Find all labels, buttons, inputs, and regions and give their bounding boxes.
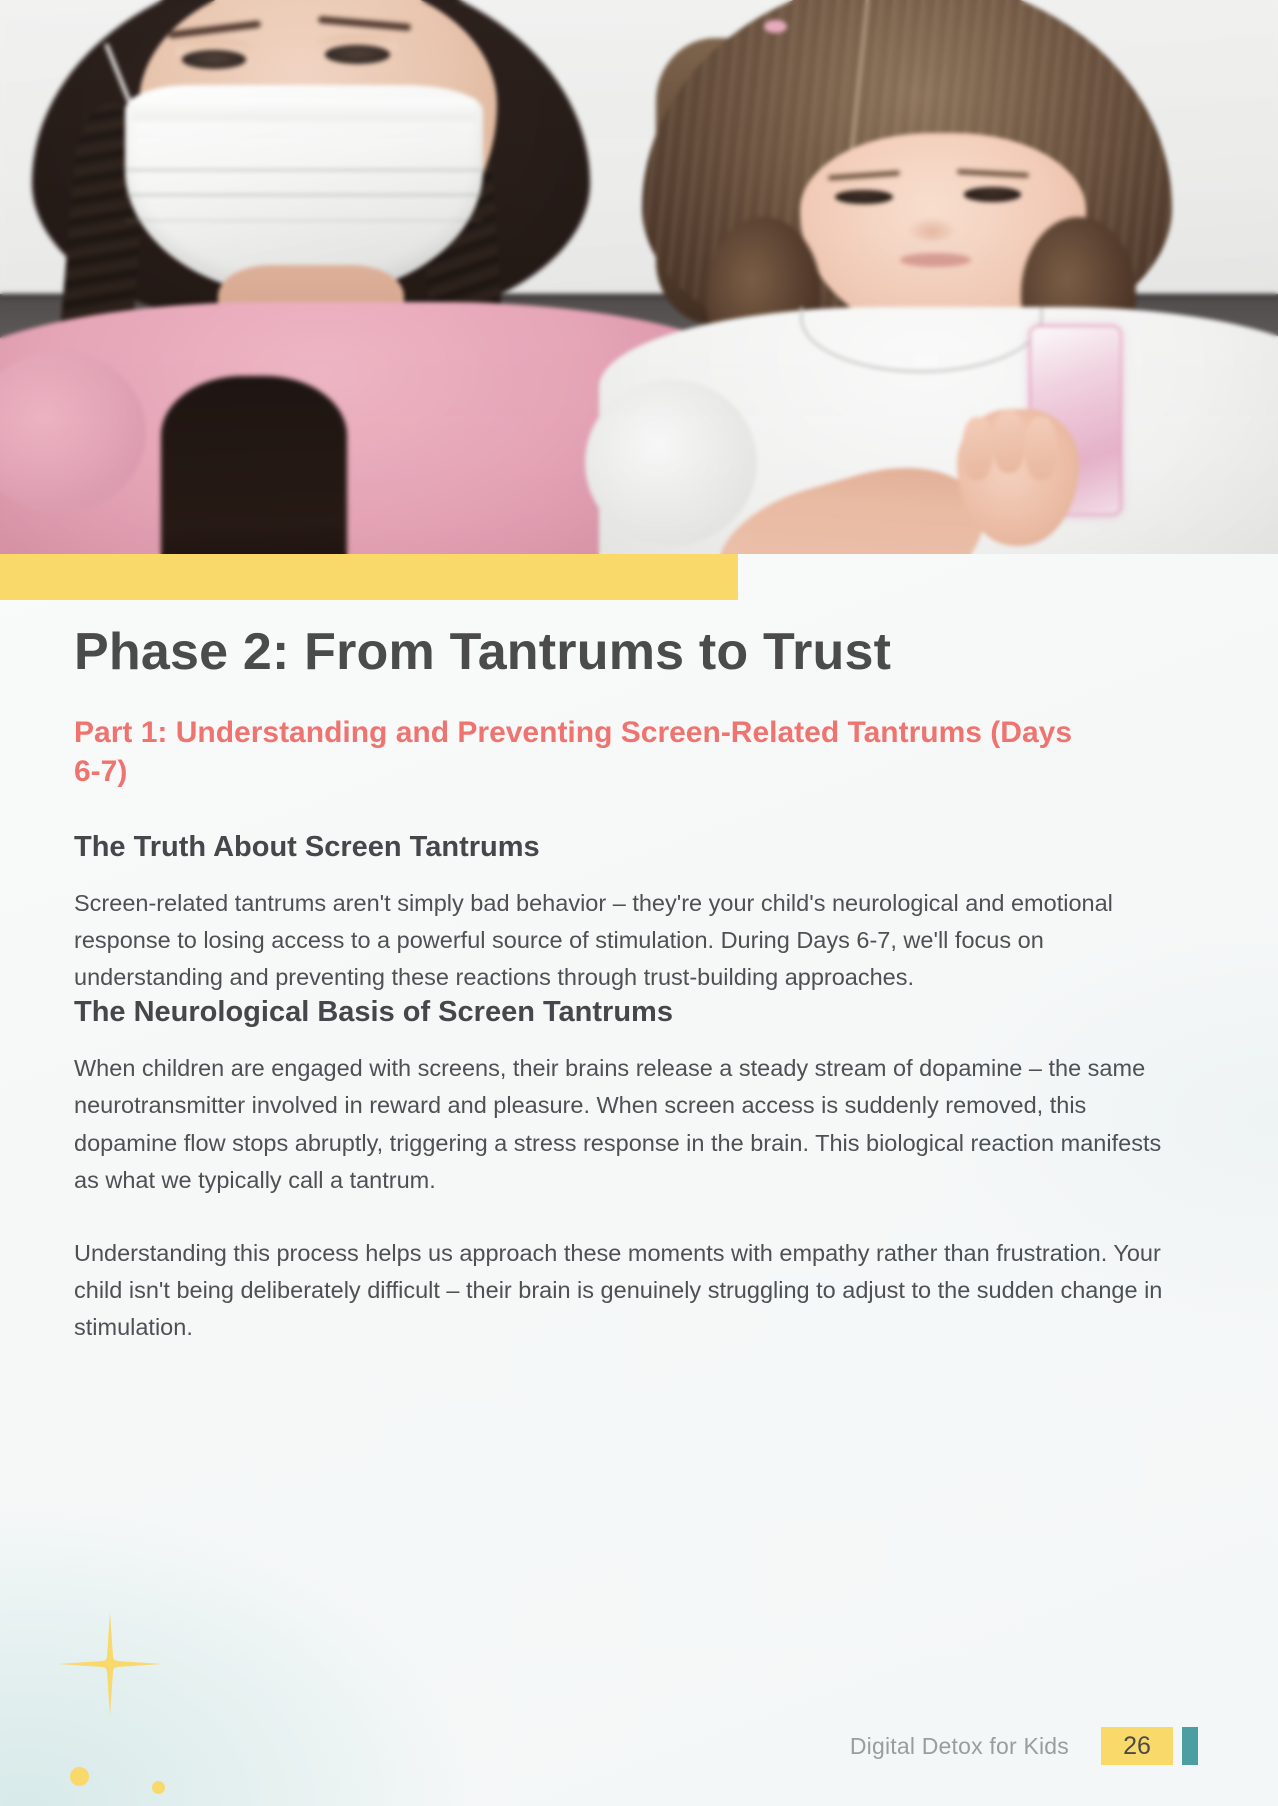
page-content: Phase 2: From Tantrums to Trust Part 1: … [74,624,1196,1346]
hero-image [0,0,1278,554]
face-mask-pleat [125,169,483,171]
photo-subject-toddler [613,0,1278,554]
section-heading-neurological-basis: The Neurological Basis of Screen Tantrum… [74,996,1196,1029]
paragraph-spacer [74,1199,1196,1235]
sparkle-core [93,1647,127,1681]
toddler-hair-tie [764,20,787,33]
toddler-sleeve [585,379,757,547]
page-number-badge: 26 [1101,1727,1173,1765]
sparkle-star-icon [58,1612,162,1716]
teal-accent-tab [1182,1727,1198,1765]
toddler-eye-right [964,187,1021,201]
footer-brand-label: Digital Detox for Kids [850,1733,1069,1760]
toddler-finger [962,417,994,480]
section-paragraph: When children are engaged with screens, … [74,1050,1182,1199]
toddler-finger [993,410,1025,473]
section-paragraph: Understanding this process helps us appr… [74,1235,1182,1346]
masked-girl-braid-tail [161,376,347,554]
face-mask-pleat [125,220,483,222]
section-paragraph: Screen-related tantrums aren't simply ba… [74,885,1182,996]
masked-girl-eye-left [182,50,246,69]
yellow-accent-bar [0,554,738,600]
masked-girl-eye-right [325,45,389,64]
section-heading-truth-about-screen-tantrums: The Truth About Screen Tantrums [74,831,1196,864]
face-mask-top-edge [132,99,476,120]
toddler-eye-left [835,190,892,204]
toddler-nose [907,217,957,241]
page-subtitle: Part 1: Understanding and Preventing Scr… [74,714,1084,791]
decorative-dot-small [152,1781,165,1794]
page-title: Phase 2: From Tantrums to Trust [74,624,1196,680]
document-page: Phase 2: From Tantrums to Trust Part 1: … [0,0,1278,1806]
toddler-finger [1025,417,1057,480]
face-mask-pleat [125,194,483,196]
page-footer: Digital Detox for Kids 26 [0,1722,1278,1770]
